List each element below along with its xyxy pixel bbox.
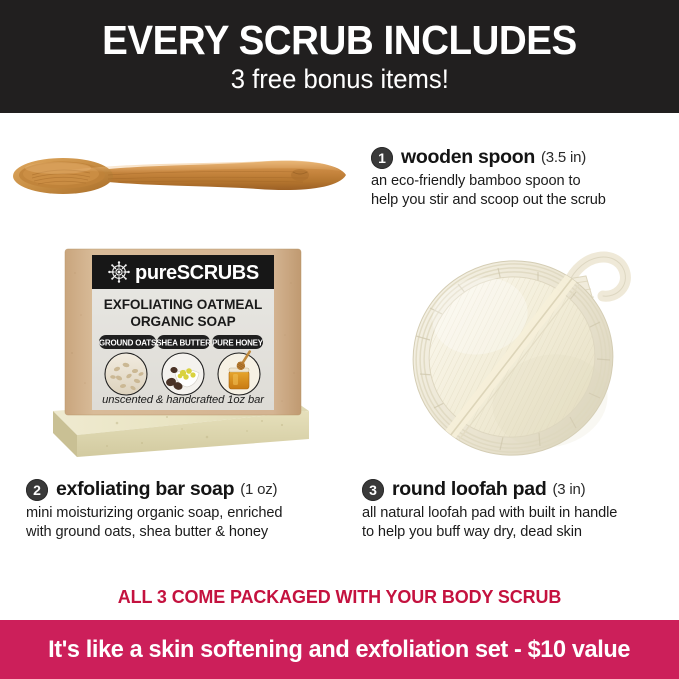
item-2-title: exfoliating bar soap [56,478,234,501]
item-3-desc-line1: all natural loofah pad with built in han… [362,504,672,523]
packaging-tagline: ALL 3 COME PACKAGED WITH YOUR BODY SCRUB [10,586,669,608]
shea-photo [162,353,204,395]
ingredient-badge-2: SHEA BUTTER [156,335,211,349]
soap-brand-text: pureSCRUBS [135,262,259,284]
soap-product-line1: EXFOLIATING OATMEAL [104,297,262,312]
item-2-heading: 2 exfoliating bar soap (1 oz) [26,478,346,501]
value-banner-text: It's like a skin softening and exfoliati… [49,636,631,664]
item-2-desc-line2: with ground oats, shea butter & honey [26,523,346,542]
loofah-pad-image [400,236,645,471]
item-3-title: round loofah pad [392,478,546,501]
svg-text:PURE HONEY: PURE HONEY [212,338,264,347]
item-2-desc-line1: mini moisturizing organic soap, enriched [26,504,346,523]
item-1-heading: 1 wooden spoon (3.5 in) [371,146,671,169]
ingredient-badge-1: GROUND OATS [99,335,157,349]
soap-graphic: pureSCRUBS EXFOLIATING OATMEAL ORGANIC S… [47,243,317,465]
bamboo-spoon-image [8,148,353,204]
ingredient-badge-3: PURE HONEY [212,335,264,349]
item-3-heading: 3 round loofah pad (3 in) [362,478,672,501]
item-3-size: (3 in) [552,481,585,498]
svg-text:SHEA BUTTER: SHEA BUTTER [156,338,211,347]
item-1-title: wooden spoon [401,146,535,169]
item-1-desc-line1: an eco-friendly bamboo spoon to [371,172,671,191]
item-2-caption: 2 exfoliating bar soap (1 oz) mini moist… [26,478,346,543]
page-title: EVERY SCRUB INCLUDES [102,20,577,61]
soap-bar-image: pureSCRUBS EXFOLIATING OATMEAL ORGANIC S… [47,243,317,465]
loofah-graphic [400,236,645,471]
page-subtitle: 3 free bonus items! [230,66,448,93]
soap-footer-text: unscented & handcrafted 1oz bar [102,394,265,406]
item-3-desc-line2: to help you buff way dry, dead skin [362,523,672,542]
item-number-badge-1: 1 [371,147,393,169]
item-1-desc-line2: help you stir and scoop out the scrub [371,191,671,210]
spoon-icon [8,148,353,204]
item-1-size: (3.5 in) [541,149,586,166]
item-2-size: (1 oz) [240,481,277,498]
value-banner: It's like a skin softening and exfoliati… [0,620,679,679]
infographic-page: EVERY SCRUB INCLUDES 3 free bonus items! [0,0,679,679]
svg-text:GROUND OATS: GROUND OATS [99,338,157,347]
oats-photo [105,353,147,395]
item-3-caption: 3 round loofah pad (3 in) all natural lo… [362,478,672,543]
item-1-caption: 1 wooden spoon (3.5 in) an eco-friendly … [371,146,671,211]
item-number-badge-2: 2 [26,479,48,501]
item-number-badge-3: 3 [362,479,384,501]
soap-product-line2: ORGANIC SOAP [130,314,235,329]
header-banner: EVERY SCRUB INCLUDES 3 free bonus items! [0,0,679,113]
